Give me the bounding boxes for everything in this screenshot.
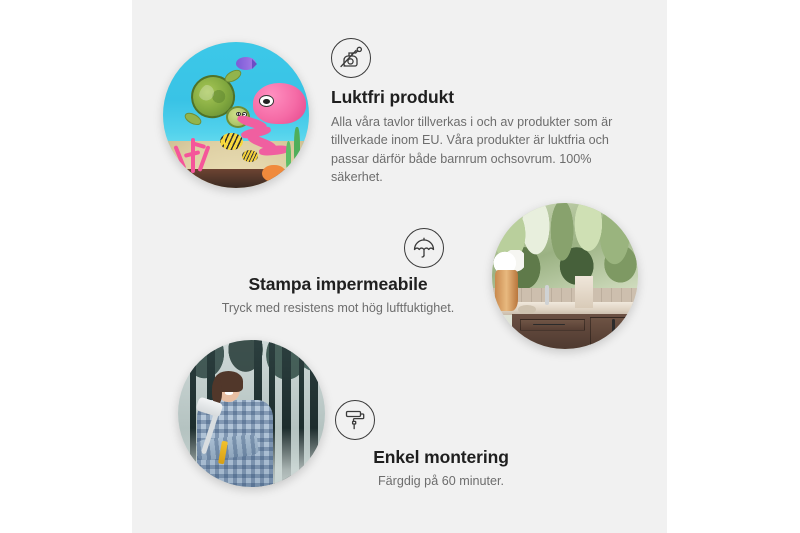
feature-title: Stampa impermeabile [196, 274, 480, 295]
woman-paint-roller-forest-circle [178, 340, 325, 487]
feature-description: Färgdig på 60 minuter. [331, 472, 611, 490]
feature-enkel-montering: Enkel montering Färgdig på 60 minuter. [331, 400, 611, 490]
woman-figure [196, 372, 278, 487]
starfish-illustration [262, 165, 285, 183]
feature-luktfri-produkt: Luktfri produkt Alla våra tavlor tillver… [331, 38, 631, 186]
soap-dish [518, 305, 536, 314]
underwater-scene [163, 42, 309, 188]
feature-stampa-impermeabile: Stampa impermeabile Tryck med resistens … [196, 228, 480, 317]
towel [575, 276, 593, 308]
octopus-eye [259, 95, 275, 107]
umbrella-icon [404, 228, 444, 268]
coral-illustration [173, 130, 217, 174]
no-odour-spray-bottle-icon [331, 38, 371, 78]
feature-description: Tryck med resistens mot hög luftfuktighe… [196, 299, 480, 317]
forest-wallpaper-scene [178, 340, 325, 487]
feature-title: Luktfri produkt [331, 87, 631, 108]
yellow-fish-illustration [220, 133, 243, 151]
octopus-head [253, 83, 306, 124]
feature-description: Alla våra tavlor tillverkas i och av pro… [331, 113, 631, 186]
infographic-page: Luktfri produkt Alla våra tavlor tillver… [0, 0, 800, 533]
bathroom-leaf-wallpaper-circle [492, 203, 638, 349]
drawer-handle [533, 324, 566, 325]
feature-title: Enkel montering [331, 447, 611, 468]
faucet [545, 285, 549, 305]
door-handle [612, 319, 616, 339]
wooden-vanity-cabinet [512, 314, 638, 349]
yellow-fish-illustration [242, 150, 258, 162]
copper-vase [495, 270, 518, 311]
underwater-kids-mural-circle [163, 42, 309, 188]
cabinet-drawer [520, 319, 585, 331]
bathroom-scene [492, 203, 638, 349]
purple-fish-illustration [236, 57, 256, 70]
seaweed-illustration [294, 127, 300, 171]
paint-roller-icon [335, 400, 375, 440]
